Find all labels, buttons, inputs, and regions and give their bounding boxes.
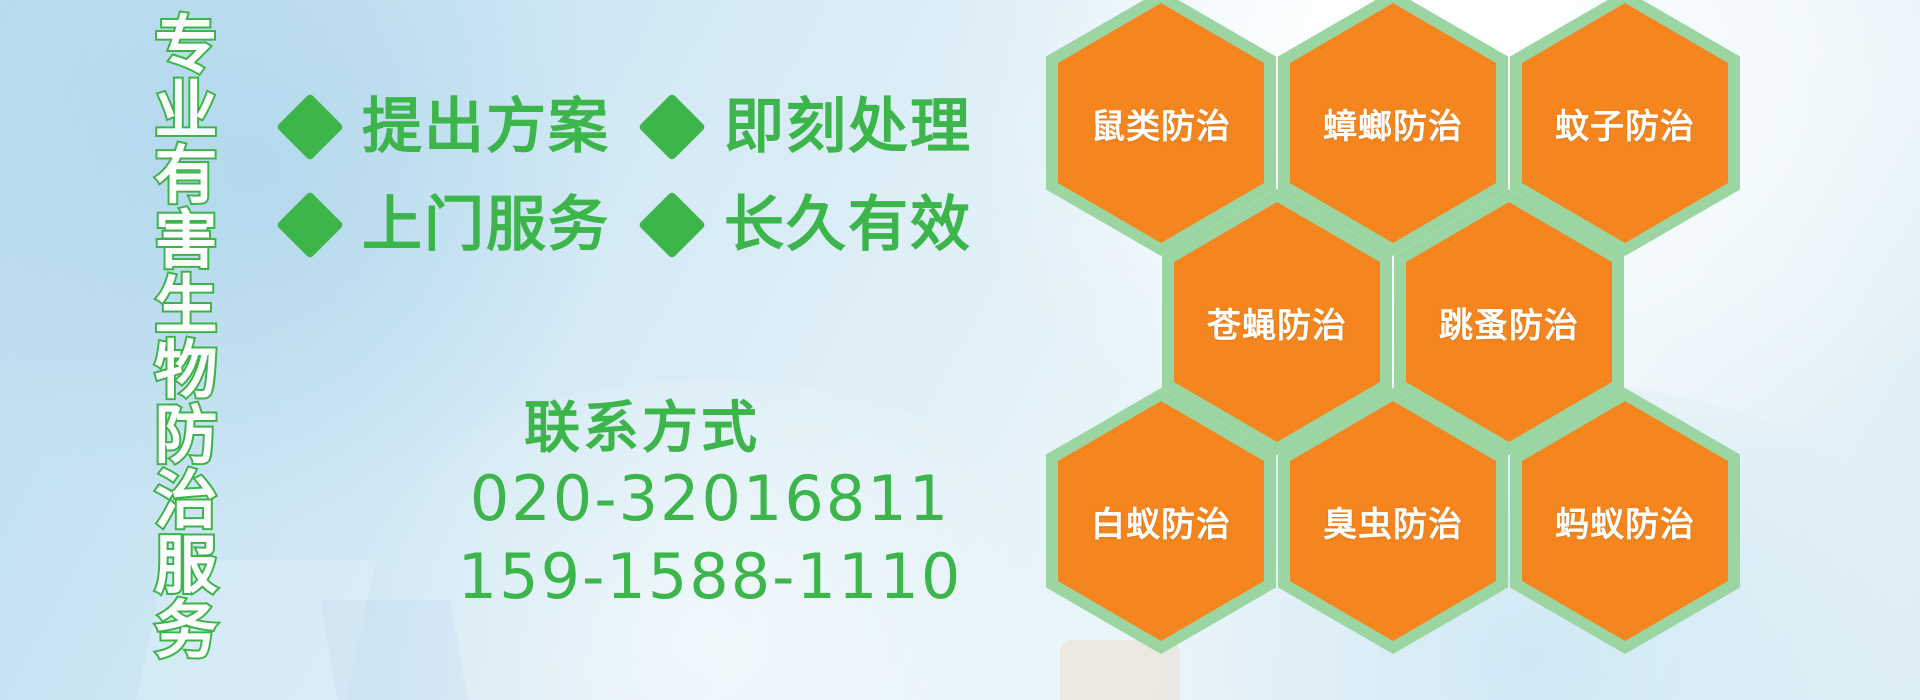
pest-control-banner: 专 业 有 害 生 物 防 治 服 务 提出方案 即刻处理 上门服务 长久有效 … bbox=[0, 0, 1920, 700]
diamond-bullet-icon bbox=[276, 191, 344, 259]
vertical-headline-char: 有 bbox=[155, 144, 218, 209]
vertical-headline-char: 物 bbox=[155, 339, 218, 404]
diamond-bullet-icon bbox=[638, 93, 706, 161]
contact-block: 联系方式 020-32016811 159-1588-1110 bbox=[390, 396, 1030, 616]
service-label: 跳蚤防治 bbox=[1439, 298, 1579, 347]
service-label: 白蚁防治 bbox=[1091, 497, 1231, 546]
vertical-headline: 专 业 有 害 生 物 防 治 服 务 bbox=[128, 14, 244, 674]
feature-list: 提出方案 即刻处理 上门服务 长久有效 bbox=[286, 96, 1086, 292]
service-label: 苍蝇防治 bbox=[1207, 298, 1347, 347]
vertical-headline-char: 治 bbox=[155, 469, 218, 534]
feature-label: 长久有效 bbox=[724, 194, 972, 256]
service-label: 蟑螂防治 bbox=[1323, 99, 1463, 148]
service-label: 臭虫防治 bbox=[1323, 497, 1463, 546]
service-hexagon-grid: 鼠类防治 蟑螂防治 蚊子防治 苍蝇防治 跳蚤防治 白蚁防治 臭虫防治 bbox=[1046, 0, 1806, 700]
vertical-headline-char: 业 bbox=[155, 79, 218, 144]
feature-row-1: 提出方案 即刻处理 bbox=[286, 96, 1086, 158]
feature-row-2: 上门服务 长久有效 bbox=[286, 194, 1086, 256]
service-label: 蚊子防治 bbox=[1555, 99, 1695, 148]
service-label: 蚂蚁防治 bbox=[1555, 497, 1695, 546]
service-label: 鼠类防治 bbox=[1091, 99, 1231, 148]
vertical-headline-char: 务 bbox=[155, 599, 218, 664]
diamond-bullet-icon bbox=[638, 191, 706, 259]
feature-label: 即刻处理 bbox=[724, 96, 972, 158]
contact-phone-mobile[interactable]: 159-1588-1110 bbox=[390, 538, 1030, 616]
vertical-headline-char: 生 bbox=[155, 274, 218, 339]
vertical-headline-char: 服 bbox=[155, 534, 218, 599]
vertical-headline-char: 专 bbox=[155, 14, 218, 79]
vertical-headline-char: 防 bbox=[155, 404, 218, 469]
contact-phone-landline[interactable]: 020-32016811 bbox=[390, 460, 1030, 538]
vertical-headline-char: 害 bbox=[155, 209, 218, 274]
diamond-bullet-icon bbox=[276, 93, 344, 161]
feature-label: 上门服务 bbox=[362, 194, 610, 256]
contact-title: 联系方式 bbox=[390, 396, 1030, 460]
feature-label: 提出方案 bbox=[362, 96, 610, 158]
